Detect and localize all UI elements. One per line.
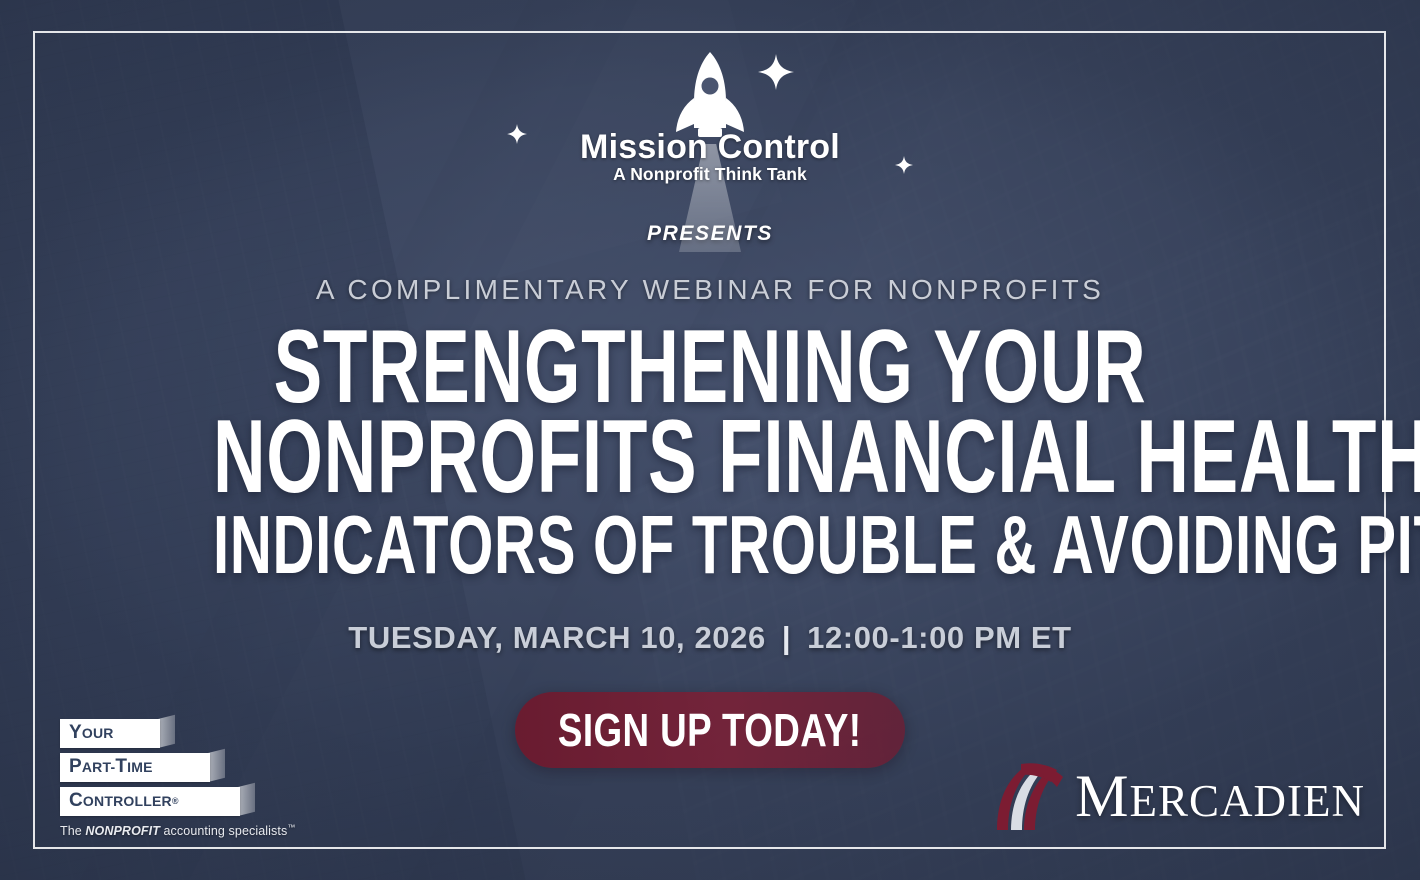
yptc-row-your: YOUR <box>60 719 290 748</box>
title-line-3: INDICATORS OF TROUBLE & AVOIDING PITFALL… <box>213 507 1207 583</box>
event-time: 12:00-1:00 PM ET <box>807 620 1072 656</box>
mercadien-wordmark: MERCADIEN <box>1075 766 1365 826</box>
webinar-eyebrow: A COMPLIMENTARY WEBINAR FOR NONPROFITS <box>316 274 1104 306</box>
yptc-time-rest: IME <box>127 759 153 775</box>
yptc-tagline: The NONPROFIT accounting specialists™ <box>60 823 290 838</box>
mission-control-title: Mission Control <box>500 128 920 167</box>
yptc-controller-cap: C <box>69 790 83 812</box>
yptc-row-part-time: PART-TIME <box>60 753 290 782</box>
yptc-part-rest: ART- <box>82 759 115 775</box>
registered-mark: ® <box>172 796 179 806</box>
yptc-your-rest: OUR <box>82 725 114 741</box>
mercadien-cap: M <box>1075 763 1129 829</box>
yptc-logo: YOUR PART-TIME CONTROLLER® The NONPROFIT… <box>60 719 290 838</box>
mercadien-logo: MERCADIEN <box>991 760 1365 832</box>
sign-up-button[interactable]: SIGN UP TODAY! <box>515 692 905 768</box>
sparkle-icon <box>758 54 794 90</box>
yptc-your-cap: Y <box>69 722 82 744</box>
mission-control-tagline: A Nonprofit Think Tank <box>500 164 920 185</box>
yptc-row-controller: CONTROLLER® <box>60 787 290 816</box>
title-line-2: NONPROFITS FINANCIAL HEALTH: <box>213 410 1207 506</box>
sign-up-button-label: SIGN UP TODAY! <box>558 703 861 757</box>
page-title: STRENGTHENING YOUR NONPROFITS FINANCIAL … <box>0 320 1420 584</box>
yptc-part-cap: P <box>69 756 82 778</box>
datetime-separator: | <box>782 620 791 656</box>
yptc-tagline-emphasis: NONPROFIT <box>85 824 160 838</box>
event-datetime: TUESDAY, MARCH 10, 2026 | 12:00-1:00 PM … <box>348 620 1071 656</box>
yptc-time-cap: T <box>115 756 127 778</box>
trademark-mark: ™ <box>287 823 295 832</box>
mercadien-swoosh-icon <box>991 760 1069 832</box>
webinar-promo-graphic: Mission Control A Nonprofit Think Tank P… <box>0 0 1420 880</box>
yptc-controller-rest: ONTROLLER <box>83 793 172 809</box>
mission-control-logo: Mission Control A Nonprofit Think Tank <box>500 44 920 204</box>
event-date: TUESDAY, MARCH 10, 2026 <box>348 620 766 656</box>
yptc-tagline-post: accounting specialists <box>160 824 287 838</box>
mercadien-smallcaps: ERCADIEN <box>1130 776 1365 826</box>
yptc-tagline-pre: The <box>60 824 85 838</box>
